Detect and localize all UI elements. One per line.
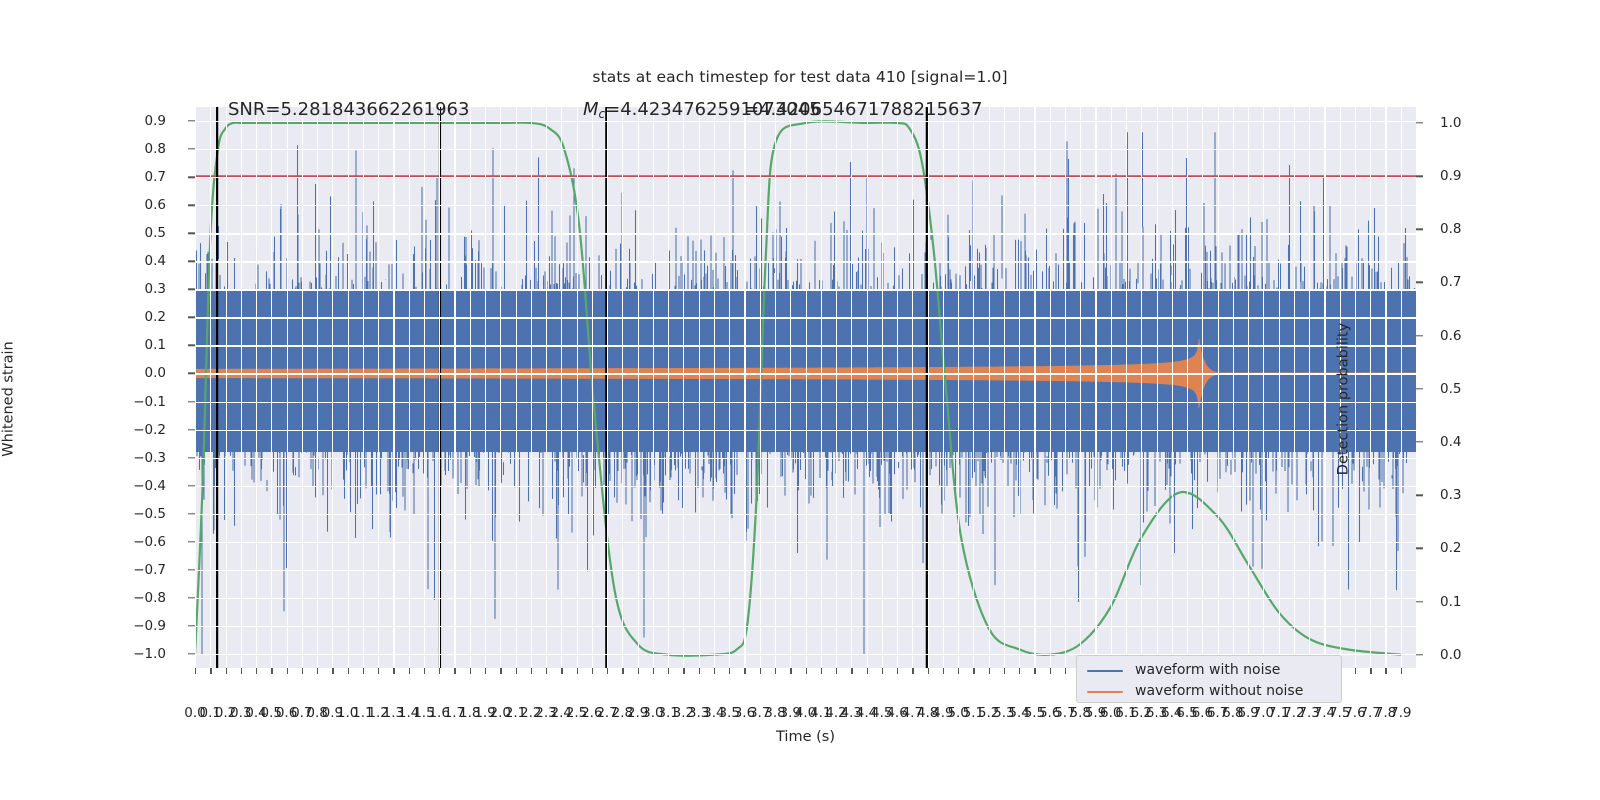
grid-line-vertical — [1294, 107, 1295, 668]
x-axis-tick — [699, 668, 700, 674]
x-axis-tick — [775, 668, 776, 674]
y-axis-right-tick — [1416, 335, 1423, 336]
x-axis-tick — [577, 668, 578, 674]
y-axis-left-tick — [188, 513, 195, 514]
grid-line-vertical — [1202, 107, 1203, 668]
y-axis-right-ticks — [1416, 107, 1430, 668]
grid-line-vertical — [271, 107, 272, 668]
grid-line-vertical — [531, 107, 532, 668]
x-axis-tick — [271, 668, 272, 674]
y-axis-right-tick-label: 0.1 — [1440, 594, 1461, 610]
y-axis-left-label: Whitened strain — [1, 119, 25, 680]
grid-line-vertical — [1141, 107, 1142, 668]
x-axis-tick — [241, 668, 242, 674]
x-axis-tick — [760, 668, 761, 674]
grid-line-vertical — [806, 107, 807, 668]
grid-line-vertical — [729, 107, 730, 668]
y-axis-left-tick — [188, 176, 195, 177]
x-axis-tick — [851, 668, 852, 674]
y-axis-left-tick-label: 0.7 — [145, 169, 166, 185]
y-axis-right-tick-label: 0.7 — [1440, 274, 1461, 290]
plot-title: stats at each timestep for test data 410… — [0, 68, 1600, 86]
y-axis-right-label: Detection probability — [1336, 119, 1360, 680]
legend-box: waveform with noisewaveform without nois… — [1076, 655, 1342, 703]
grid-line-vertical — [485, 107, 486, 668]
x-axis-tick — [500, 668, 501, 674]
x-axis-tick — [531, 668, 532, 674]
x-axis-tick — [897, 668, 898, 674]
x-axis-tick — [348, 668, 349, 674]
grid-line-vertical — [1111, 107, 1112, 668]
grid-line-vertical — [1187, 107, 1188, 668]
grid-line-vertical — [821, 107, 822, 668]
grid-line-vertical — [1248, 107, 1249, 668]
x-axis-tick — [744, 668, 745, 674]
grid-line-vertical — [561, 107, 562, 668]
y-axis-left-tick-label: −0.9 — [133, 618, 166, 634]
x-axis-tick — [332, 668, 333, 674]
grid-line-vertical — [836, 107, 837, 668]
matplotlib-figure: stats at each timestep for test data 410… — [0, 0, 1600, 800]
x-axis-tick — [592, 668, 593, 674]
y-axis-left-tick — [188, 429, 195, 430]
grid-line-vertical — [1172, 107, 1173, 668]
snr-annotation: SNR=5.281843662261963 — [228, 99, 469, 120]
grid-line-vertical — [851, 107, 852, 668]
y-axis-left-tick — [188, 317, 195, 318]
x-axis-tick — [454, 668, 455, 674]
grid-line-vertical — [424, 107, 425, 668]
grid-line-vertical — [958, 107, 959, 668]
y-axis-left-tick-label: 0.3 — [145, 281, 166, 297]
grid-line-vertical — [989, 107, 990, 668]
grid-line-vertical — [744, 107, 745, 668]
grid-line-vertical — [790, 107, 791, 668]
grid-line-vertical — [592, 107, 593, 668]
grid-line-vertical — [1401, 107, 1402, 668]
x-axis-tick — [729, 668, 730, 674]
grid-line-vertical — [378, 107, 379, 668]
grid-line-vertical — [287, 107, 288, 668]
grid-line-vertical — [1309, 107, 1310, 668]
x-axis-tick — [607, 668, 608, 674]
y-axis-left-tick — [188, 148, 195, 149]
grid-line-vertical — [1004, 107, 1005, 668]
grid-line-vertical — [210, 107, 211, 668]
y-axis-left-tick — [188, 485, 195, 486]
x-axis-tick — [622, 668, 623, 674]
grid-line-vertical — [1065, 107, 1066, 668]
x-axis-tick — [226, 668, 227, 674]
x-axis-tick — [714, 668, 715, 674]
y-axis-right-tick-labels: 1.00.90.80.70.60.50.40.30.20.10.0 — [1416, 107, 1536, 668]
x-axis-tick — [943, 668, 944, 674]
legend-color-swatch — [1087, 670, 1123, 672]
y-axis-left-tick-label: −0.7 — [133, 562, 166, 578]
x-axis-tick — [989, 668, 990, 674]
x-axis-tick — [409, 668, 410, 674]
y-axis-right-tick-label: 0.4 — [1440, 434, 1461, 450]
y-axis-right-tick-label: 0.8 — [1440, 221, 1461, 237]
y-axis-left-tick — [188, 345, 195, 346]
y-axis-left-tick-label: −0.1 — [133, 394, 166, 410]
x-axis-tick — [1385, 668, 1386, 674]
y-axis-right-tick — [1416, 122, 1423, 123]
grid-line-vertical — [1095, 107, 1096, 668]
x-axis-tick — [867, 668, 868, 674]
grid-line-vertical — [867, 107, 868, 668]
x-axis-tick — [546, 668, 547, 674]
y-axis-right-tick-label: 1.0 — [1440, 115, 1461, 131]
x-axis-tick — [378, 668, 379, 674]
grid-line-vertical — [302, 107, 303, 668]
y-axis-right-tick — [1416, 494, 1423, 495]
grid-line-vertical — [943, 107, 944, 668]
x-axis-tick — [195, 668, 196, 674]
grid-line-vertical — [393, 107, 394, 668]
y-axis-right-tick — [1416, 229, 1423, 230]
grid-line-vertical — [622, 107, 623, 668]
x-axis-tick — [1004, 668, 1005, 674]
grid-line-vertical — [332, 107, 333, 668]
x-axis-tick — [439, 668, 440, 674]
grid-line-vertical — [1233, 107, 1234, 668]
grid-line-vertical — [775, 107, 776, 668]
y-axis-left-tick-label: 0.9 — [145, 113, 166, 129]
y-axis-left-tick-label: −0.4 — [133, 478, 166, 494]
x-axis-tick — [1401, 668, 1402, 674]
y-axis-left-tick-label: 0.4 — [145, 253, 166, 269]
y-axis-left-tick — [188, 233, 195, 234]
y-axis-left-tick-label: 0.6 — [145, 197, 166, 213]
grid-line-vertical — [409, 107, 410, 668]
y-axis-left-tick — [188, 457, 195, 458]
grid-line-vertical — [1080, 107, 1081, 668]
grid-line-vertical — [577, 107, 578, 668]
x-axis-tick — [806, 668, 807, 674]
y-axis-right-tick — [1416, 441, 1423, 442]
grid-line-vertical — [607, 107, 608, 668]
x-axis-tick — [882, 668, 883, 674]
x-axis-tick — [287, 668, 288, 674]
y-axis-right-tick-label: 0.5 — [1440, 381, 1461, 397]
grid-line-vertical — [1034, 107, 1035, 668]
grid-line-vertical — [1157, 107, 1158, 668]
y-axis-left-tick — [188, 120, 195, 121]
y-axis-left-tick-label: −0.3 — [133, 450, 166, 466]
y-axis-right-tick — [1416, 654, 1423, 655]
grid-line-vertical — [256, 107, 257, 668]
grid-line-vertical — [928, 107, 929, 668]
plot-area — [195, 107, 1416, 668]
grid-line-vertical — [683, 107, 684, 668]
grid-line-vertical — [226, 107, 227, 668]
grid-line-vertical — [1126, 107, 1127, 668]
y-axis-right-tick — [1416, 548, 1423, 549]
grid-line-vertical — [195, 107, 196, 668]
y-axis-left-tick-label: −0.2 — [133, 422, 166, 438]
legend-label: waveform with noise — [1135, 660, 1280, 681]
y-axis-left-tick-label: 0.2 — [145, 309, 166, 325]
grid-line-vertical — [348, 107, 349, 668]
grid-line-vertical — [317, 107, 318, 668]
x-axis-tick — [1019, 668, 1020, 674]
x-axis-tick — [638, 668, 639, 674]
x-axis-tick — [683, 668, 684, 674]
x-axis-tick — [485, 668, 486, 674]
x-axis-tick-label: 7.9 — [1390, 705, 1411, 721]
x-axis-tick — [912, 668, 913, 674]
y-axis-left-tick — [188, 289, 195, 290]
grid-line-vertical — [760, 107, 761, 668]
grid-line-vertical — [714, 107, 715, 668]
grid-line-vertical — [454, 107, 455, 668]
y-axis-left-tick-label: 0.0 — [145, 365, 166, 381]
grid-line-vertical — [897, 107, 898, 668]
x-axis-tick — [1370, 668, 1371, 674]
y-axis-left-tick-label: 0.1 — [145, 337, 166, 353]
x-axis-tick — [516, 668, 517, 674]
y-axis-left-tick — [188, 373, 195, 374]
grid-line-vertical — [500, 107, 501, 668]
y-axis-left-tick-label: −1.0 — [133, 646, 166, 662]
y-axis-left-tick — [188, 597, 195, 598]
grid-line-vertical — [363, 107, 364, 668]
grid-line-vertical — [882, 107, 883, 668]
y-axis-left-tick — [188, 541, 195, 542]
x-axis-tick — [1034, 668, 1035, 674]
grid-line-vertical — [1218, 107, 1219, 668]
legend-color-swatch — [1087, 691, 1123, 693]
x-axis-tick — [836, 668, 837, 674]
y-axis-right-tick-label: 0.3 — [1440, 487, 1461, 503]
grid-line-vertical — [638, 107, 639, 668]
x-axis-tick — [973, 668, 974, 674]
x-axis-tick — [821, 668, 822, 674]
y-axis-left-tick — [188, 401, 195, 402]
grid-line-vertical — [546, 107, 547, 668]
grid-line-vertical — [973, 107, 974, 668]
x-axis-tick — [668, 668, 669, 674]
grid-line-vertical — [1385, 107, 1386, 668]
grid-line-vertical — [1019, 107, 1020, 668]
y-axis-left-tick — [188, 625, 195, 626]
x-axis-tick — [958, 668, 959, 674]
x-axis-tick — [363, 668, 364, 674]
x-axis-tick — [210, 668, 211, 674]
y-axis-left-tick — [188, 204, 195, 205]
grid-line-vertical — [912, 107, 913, 668]
y-axis-left-tick-label: 0.5 — [145, 225, 166, 241]
legend-label: waveform without noise — [1135, 681, 1303, 702]
y-axis-left-tick-label: −0.5 — [133, 506, 166, 522]
y-axis-right-tick — [1416, 388, 1423, 389]
x-axis-tick — [1050, 668, 1051, 674]
x-axis-tick — [561, 668, 562, 674]
x-axis-tick — [653, 668, 654, 674]
grid-line-vertical — [1263, 107, 1264, 668]
x-axis-tick — [256, 668, 257, 674]
x-axis-tick — [1065, 668, 1066, 674]
grid-line-vertical — [439, 107, 440, 668]
y-axis-left-tick-label: 0.8 — [145, 141, 166, 157]
y-axis-left-tick — [188, 569, 195, 570]
x-axis-tick — [790, 668, 791, 674]
y-axis-right-tick — [1416, 282, 1423, 283]
grid-line-vertical — [1370, 107, 1371, 668]
x-axis-tick — [393, 668, 394, 674]
y-axis-right-tick — [1416, 175, 1423, 176]
y-axis-left-tick-label: −0.6 — [133, 534, 166, 550]
y-axis-right-tick-label: 0.2 — [1440, 540, 1461, 556]
y-axis-right-tick-label: 0.6 — [1440, 328, 1461, 344]
chirp-mass-symbol: M — [583, 99, 599, 120]
y-axis-right-tick — [1416, 601, 1423, 602]
grid-line-vertical — [241, 107, 242, 668]
grid-line-vertical — [516, 107, 517, 668]
y-axis-left-tick — [188, 261, 195, 262]
y-axis-right-tick-label: 0.0 — [1440, 647, 1461, 663]
x-axis-label: Time (s) — [195, 729, 1416, 745]
grid-line-vertical — [1050, 107, 1051, 668]
x-axis-tick — [928, 668, 929, 674]
y-axis-left-tick-label: −0.8 — [133, 590, 166, 606]
grid-line-vertical — [699, 107, 700, 668]
y-axis-left-tick — [188, 653, 195, 654]
x-axis-tick — [424, 668, 425, 674]
grid-line-vertical — [1279, 107, 1280, 668]
x-axis-tick — [317, 668, 318, 674]
grid-line-vertical — [653, 107, 654, 668]
chirp-mass-annotation-overlap: =4.420654671788215637 — [744, 99, 982, 120]
y-axis-left-tick-labels: 0.90.80.70.60.50.40.30.20.10.0−0.1−0.2−0… — [0, 107, 188, 668]
grid-line-vertical — [1324, 107, 1325, 668]
grid-line-vertical — [470, 107, 471, 668]
x-axis-tick — [470, 668, 471, 674]
grid-line-vertical — [668, 107, 669, 668]
x-axis-tick — [302, 668, 303, 674]
grid-lines — [195, 107, 1416, 668]
y-axis-right-tick-label: 0.9 — [1440, 168, 1461, 184]
y-axis-left-ticks — [181, 107, 195, 668]
